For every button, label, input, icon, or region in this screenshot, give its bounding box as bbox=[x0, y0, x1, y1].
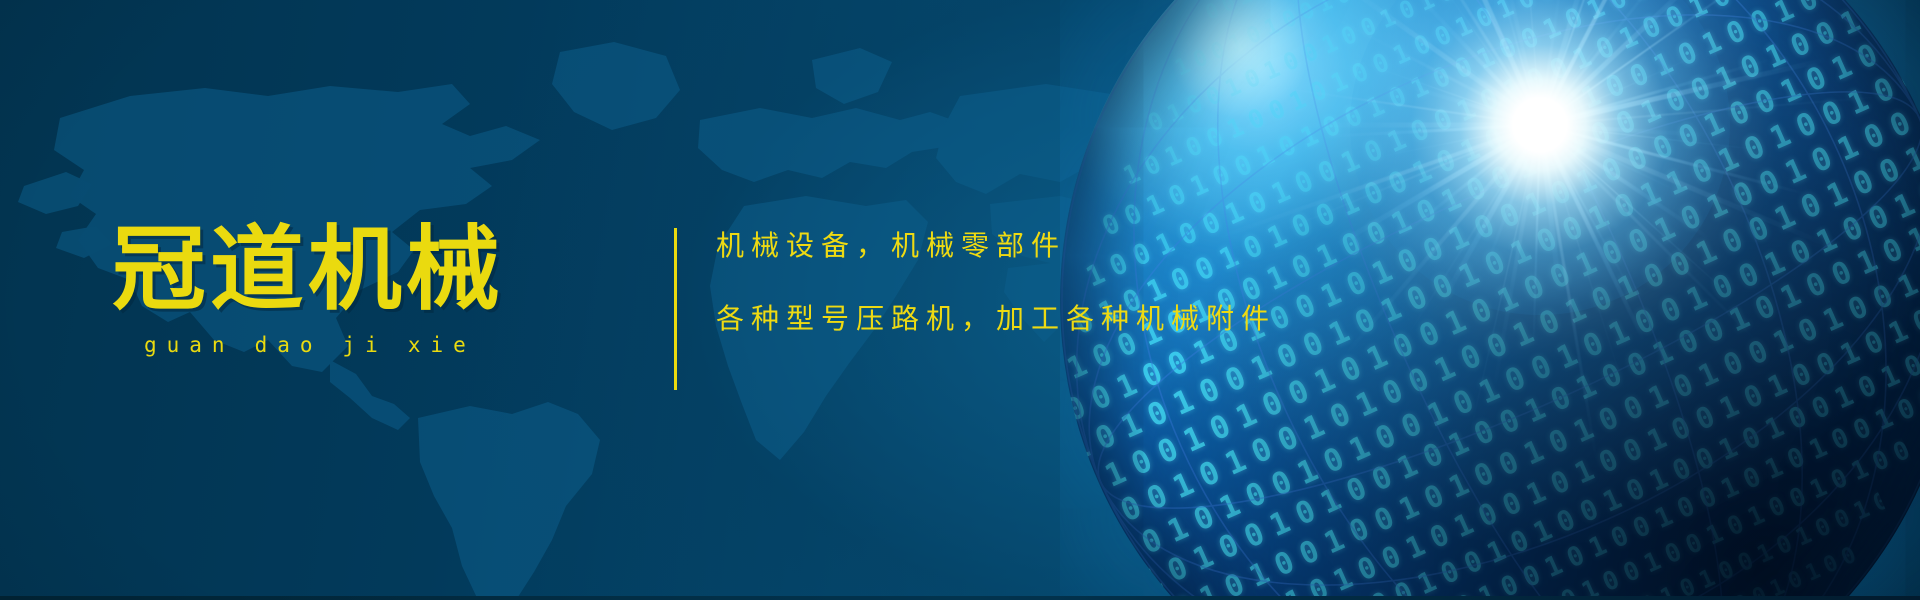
pinyin-syllable: guan bbox=[144, 333, 235, 357]
banner-content: 冠道机械 guandaojixie 机械设备，机械零部件 各种型号压路机，加工各… bbox=[0, 0, 1920, 600]
pinyin-syllable: xie bbox=[408, 333, 476, 357]
tagline-line-1: 机械设备，机械零部件 bbox=[716, 232, 1276, 260]
tagline-line-2: 各种型号压路机，加工各种机械附件 bbox=[716, 305, 1276, 333]
brand-name-cn: 冠道机械 bbox=[112, 222, 551, 319]
brand-logo: 冠道机械 guandaojixie bbox=[112, 222, 542, 357]
pinyin-syllable: dao bbox=[255, 333, 323, 357]
bottom-edge bbox=[0, 596, 1920, 600]
tagline-block: 机械设备，机械零部件 各种型号压路机，加工各种机械附件 bbox=[716, 232, 1276, 333]
pinyin-syllable: ji bbox=[343, 333, 388, 357]
vertical-divider bbox=[674, 228, 677, 390]
hero-banner: 1001010010100100101001010010100101001001… bbox=[0, 0, 1920, 600]
brand-pinyin: guandaojixie bbox=[112, 333, 542, 357]
